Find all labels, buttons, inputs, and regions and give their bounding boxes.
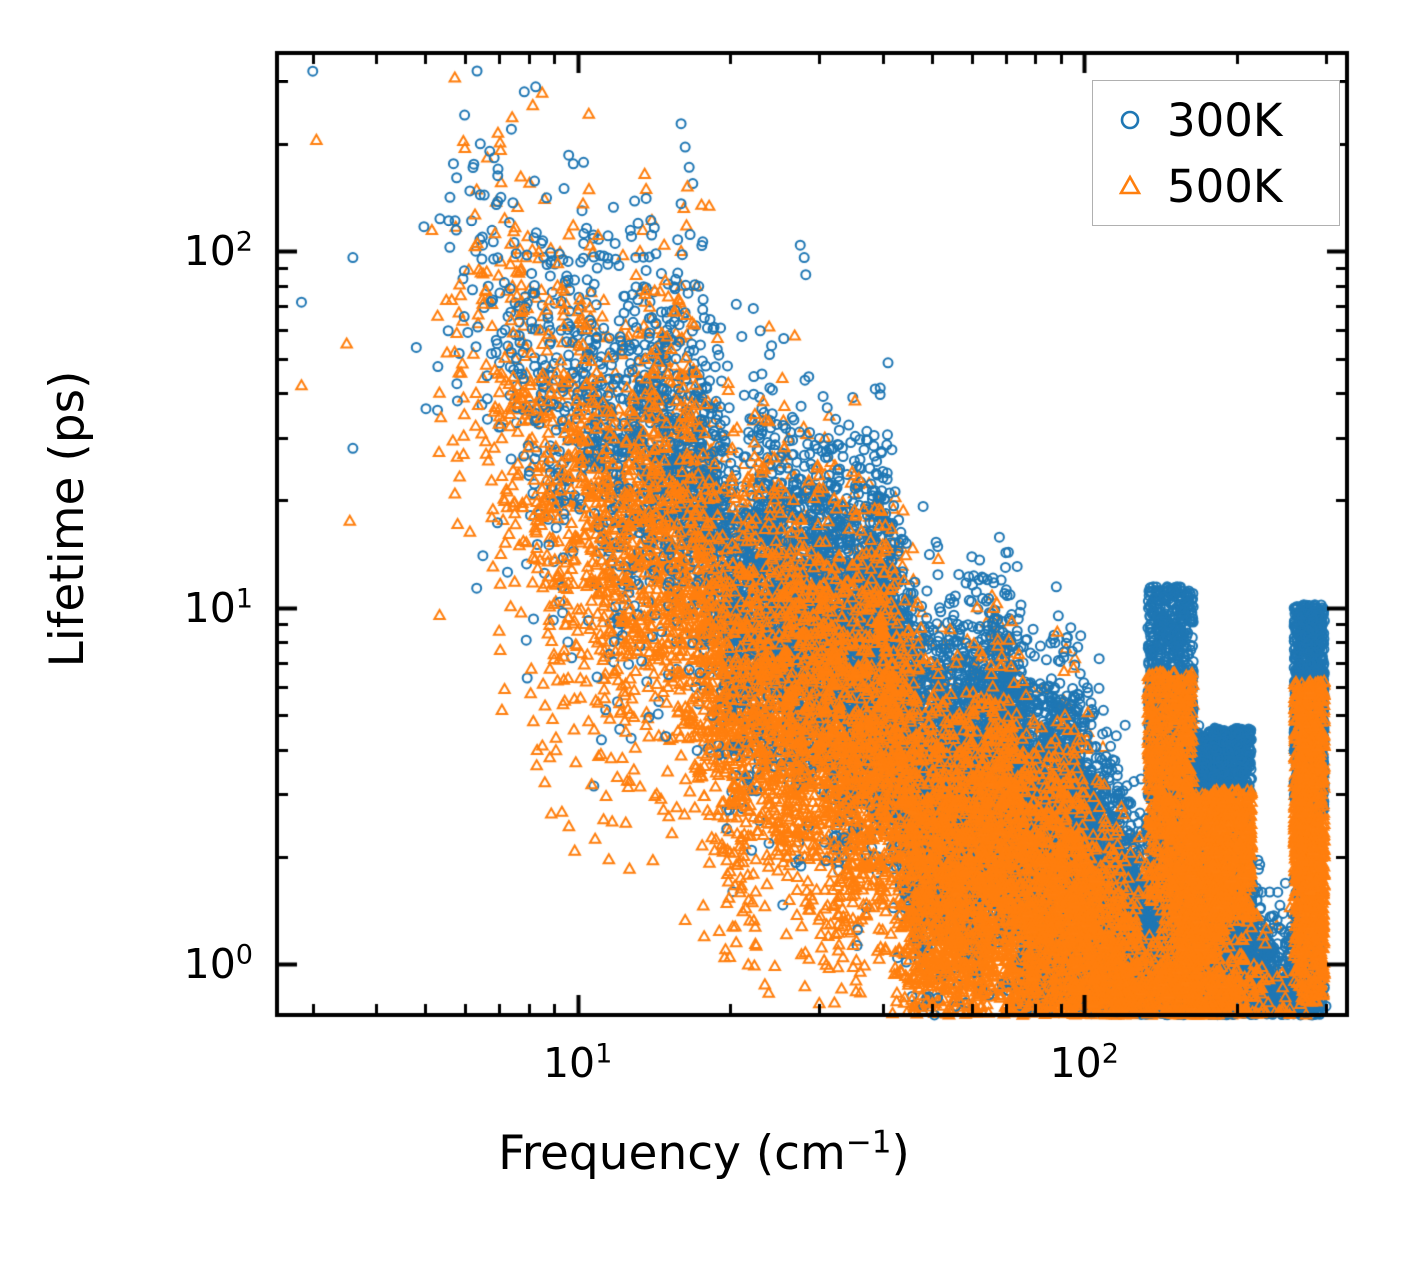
x-axis-label: Frequency (cm−1) [0,1126,1408,1181]
legend-label-300k: 300K [1167,94,1282,147]
y-tick-label-1e1: 101 [0,584,253,632]
y-axis-label-container: Lifetime (ps) [40,19,100,1019]
x-axis-label-text: Frequency (cm [498,1126,846,1181]
legend: 300K 500K [1092,80,1340,226]
figure-root: 100 101 102 101 102 Frequency (cm−1) Lif… [0,0,1408,1265]
legend-marker-triangle-icon [1093,169,1167,203]
x-axis-label-exponent: −1 [846,1124,892,1160]
y-axis-label: Lifetime (ps) [40,371,95,668]
x-tick-label-1e1: 101 [543,1039,612,1087]
y-tick-label-1e2: 102 [0,227,253,275]
x-axis-label-tail: ) [892,1126,910,1181]
legend-entry-300k[interactable]: 300K [1093,87,1339,153]
legend-entry-500k[interactable]: 500K [1093,153,1339,219]
legend-marker-circle-icon [1093,103,1167,137]
x-tick-label-1e2: 102 [1050,1039,1119,1087]
y-tick-label-1e0: 100 [0,940,253,988]
legend-label-500k: 500K [1167,160,1282,213]
